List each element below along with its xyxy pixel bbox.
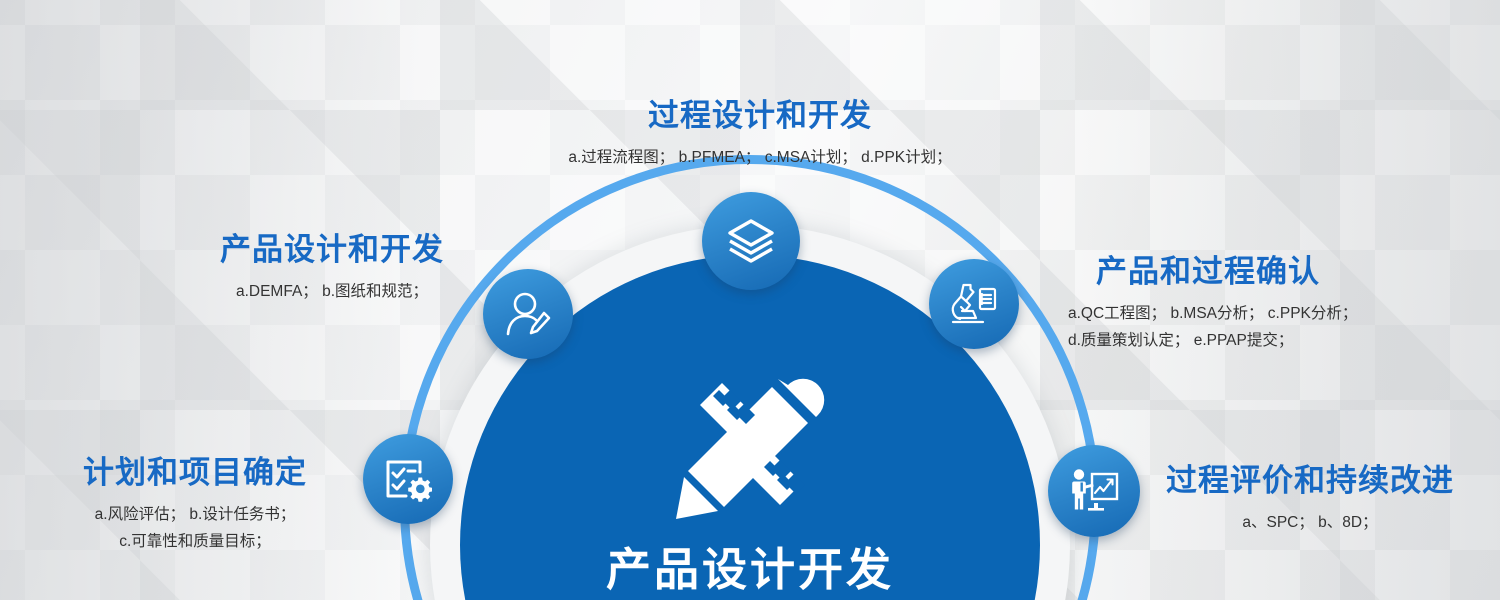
checklist-gear-icon (384, 456, 432, 502)
node-evaluation-improvement[interactable] (1048, 445, 1140, 537)
detail-product-design-line-1: a.DEMFA； b.图纸和规范； (172, 278, 492, 305)
detail-validation-line-1: a.QC工程图； b.MSA分析； c.PPK分析； (1068, 300, 1468, 327)
node-plan-and-define[interactable] (363, 434, 453, 524)
layers-icon (726, 218, 776, 264)
heading-plan-and-define: 计划和项目确定 (45, 455, 345, 491)
heading-product-process-validation: 产品和过程确认 (1096, 254, 1468, 290)
node-product-process-validation[interactable] (929, 259, 1019, 349)
center-title: 产品设计开发 (460, 545, 1040, 595)
text-block-plan-and-define: 计划和项目确定 a.风险评估； b.设计任务书； c.可靠性和质量目标； (45, 455, 345, 555)
heading-product-design: 产品设计和开发 (172, 232, 492, 268)
text-block-product-design: 产品设计和开发 a.DEMFA； b.图纸和规范； (172, 232, 492, 305)
detail-plan-line-2: c.可靠性和质量目标； (45, 528, 345, 555)
presenter-chart-icon (1068, 468, 1120, 514)
text-block-product-process-validation: 产品和过程确认 a.QC工程图； b.MSA分析； c.PPK分析； d.质量策… (1068, 254, 1468, 354)
text-block-evaluation-improvement: 过程评价和持续改进 a、SPC； b、8D； (1140, 463, 1480, 536)
detail-validation-line-2: d.质量策划认定； e.PPAP提交； (1068, 327, 1468, 354)
detail-evaluation-line-1: a、SPC； b、8D； (1140, 509, 1480, 536)
user-pencil-icon (504, 291, 552, 337)
node-process-design[interactable] (702, 192, 800, 290)
heading-evaluation-improvement: 过程评价和持续改进 (1140, 463, 1480, 499)
text-block-process-design: 过程设计和开发 a.过程流程图； b.PFMEA； c.MSA计划； d.PPK… (520, 98, 1000, 171)
pencil-ruler-icon (666, 371, 834, 521)
detail-process-design-line-1: a.过程流程图； b.PFMEA； c.MSA计划； d.PPK计划； (520, 144, 1000, 171)
microscope-icon (949, 281, 999, 327)
apqp-product-design-banner: 产品设计开发 Product design and development (0, 0, 1500, 600)
detail-plan-line-1: a.风险评估； b.设计任务书； (45, 501, 345, 528)
node-product-design[interactable] (483, 269, 573, 359)
heading-process-design: 过程设计和开发 (520, 98, 1000, 134)
